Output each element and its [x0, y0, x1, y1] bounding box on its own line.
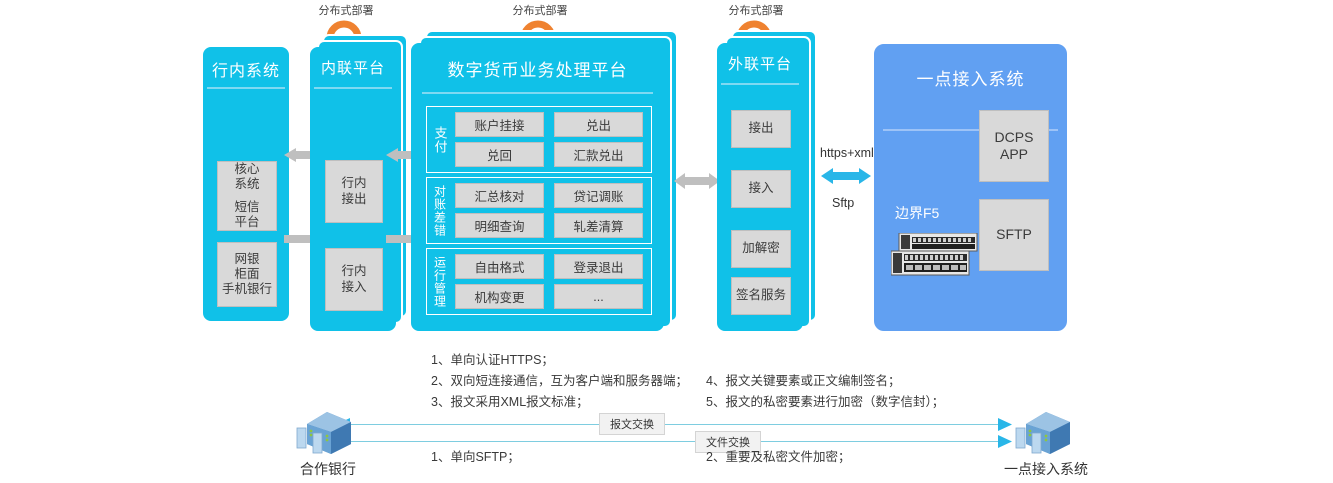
group-payment-cells: 账户挂接 兑出 兑回 汇款兑出 — [453, 107, 651, 172]
list-item: 4、报文关键要素或正文编制签名； — [706, 371, 944, 392]
panel-extranet-platform: 外联平台 接出 接入 加解密 签名服务 — [717, 43, 803, 331]
server-stack-svg — [293, 404, 361, 456]
title-divider — [314, 87, 391, 89]
bottom-left-list: 1、单向认证HTTPS； 2、双向短连接通信，互为客户端和服务器端； 3、报文采… — [431, 350, 688, 413]
bottom-lower-right-text: 2、重要及私密文件加密； — [706, 447, 850, 468]
cell-remit-exchange-out[interactable]: 汇款兑出 — [554, 142, 643, 167]
box-line: 平台 — [234, 215, 259, 230]
arrow-dcep-extranet-bidirectional — [674, 172, 720, 186]
cell-exchange-back[interactable]: 兑回 — [455, 142, 544, 167]
group-reconciliation-cells: 汇总核对 贷记调账 明细查询 轧差清算 — [453, 178, 651, 243]
cell-detail-query[interactable]: 明细查询 — [455, 213, 544, 238]
bottom-right-list: 4、报文关键要素或正文编制签名； 5、报文的私密要素进行加密（数字信封）； — [706, 371, 944, 413]
cell-account-link[interactable]: 账户挂接 — [455, 112, 544, 137]
box-ingress: 接入 — [731, 170, 791, 208]
list-item: 2、双向短连接通信，互为客户端和服务器端； — [431, 371, 688, 392]
group-operations-cells: 自由格式 登录退出 机构变更 ... — [453, 249, 651, 314]
server-icon-partner-bank — [293, 404, 361, 461]
cell-summary-check[interactable]: 汇总核对 — [455, 183, 544, 208]
panel-inbank-system: 行内系统 核心 系统 短信 平台 网银 柜面 手机银行 — [203, 47, 289, 321]
cell-more[interactable]: ... — [554, 284, 643, 309]
panel-onepoint-title: 一点接入系统 — [875, 45, 1066, 90]
message-exchange-line — [340, 424, 1008, 425]
panel-dcep-title: 数字货币业务处理平台 — [412, 44, 663, 81]
box-egress: 接出 — [731, 110, 791, 148]
cell-netting-settlement[interactable]: 轧差清算 — [554, 213, 643, 238]
box-line: 行内 — [341, 176, 366, 191]
box-line: 短信 — [234, 200, 259, 215]
network-switch-icon — [891, 233, 983, 282]
group-reconciliation: 对账差错 汇总核对 贷记调账 明细查询 轧差清算 — [426, 177, 652, 244]
box-dcps-app: DCPS APP — [979, 110, 1049, 182]
list-item: 5、报文的私密要素进行加密（数字信封）； — [706, 392, 944, 413]
box-line: APP — [1000, 146, 1028, 163]
cell-org-change[interactable]: 机构变更 — [455, 284, 544, 309]
arrowhead-right-icon — [998, 435, 1012, 448]
arrowhead-right-icon — [998, 418, 1012, 431]
box-line: 核心 — [234, 162, 259, 177]
server-stack-svg — [1012, 404, 1080, 456]
group-payment: 支付 账户挂接 兑出 兑回 汇款兑出 — [426, 106, 652, 173]
box-inbank-ingress: 行内 接入 — [325, 248, 383, 311]
title-divider — [207, 87, 284, 89]
arrowhead-to-onepoint-file — [998, 435, 1012, 453]
network-switch-svg — [891, 233, 983, 277]
arrow-double-icon — [674, 172, 720, 190]
box-line: 柜面 — [234, 267, 259, 282]
arrow-double-cyan-icon — [821, 167, 871, 185]
box-sftp: SFTP — [979, 199, 1049, 271]
panel-onepoint-access-system: 一点接入系统 边界F5 — [874, 44, 1067, 331]
tag-message-exchange: 报文交换 — [599, 413, 665, 435]
box-inbank-egress: 行内 接出 — [325, 160, 383, 223]
box-line: 系统 — [234, 177, 259, 192]
f5-boundary-label: 边界F5 — [895, 203, 939, 223]
cell-exchange-out[interactable]: 兑出 — [554, 112, 643, 137]
protocol-label-sftp: Sftp — [832, 196, 854, 210]
list-item: 3、报文采用XML报文标准； — [431, 392, 688, 413]
arrowhead-to-onepoint-message — [998, 418, 1012, 436]
box-line: 网银 — [234, 252, 259, 267]
box-encrypt-decrypt: 加解密 — [731, 230, 791, 268]
protocol-arrow-bidirectional — [821, 167, 871, 190]
panel-inbank-title: 行内系统 — [204, 48, 288, 81]
server-label-onepoint-access: 一点接入系统 — [996, 459, 1096, 479]
server-label-partner-bank: 合作银行 — [288, 459, 368, 479]
group-reconciliation-label: 对账差错 — [427, 178, 453, 243]
bottom-lower-left-text: 1、单向SFTP； — [431, 447, 520, 468]
title-divider — [422, 92, 653, 94]
panel-dcep-platform: 数字货币业务处理平台 支付 账户挂接 兑出 兑回 汇款兑出 对账差错 汇总核对 … — [411, 43, 664, 331]
list-item: 1、单向认证HTTPS； — [431, 350, 688, 371]
title-divider — [721, 83, 798, 85]
box-line: 行内 — [341, 264, 366, 279]
cell-free-format[interactable]: 自由格式 — [455, 254, 544, 279]
server-icon-onepoint-access — [1012, 404, 1080, 461]
box-ebank-counter-mobile: 网银 柜面 手机银行 — [217, 242, 277, 307]
group-payment-label: 支付 — [427, 107, 453, 172]
box-line: 接出 — [341, 192, 366, 207]
box-core-system: 核心 系统 短信 平台 — [217, 161, 277, 231]
group-operations-label: 运行管理 — [427, 249, 453, 314]
cell-login-logout[interactable]: 登录退出 — [554, 254, 643, 279]
box-signature-service: 签名服务 — [731, 277, 791, 315]
box-line: DCPS — [995, 129, 1034, 146]
protocol-label-https-xml: https+xml — [820, 146, 874, 160]
cell-credit-adjust[interactable]: 贷记调账 — [554, 183, 643, 208]
panel-extranet-title: 外联平台 — [718, 44, 802, 74]
file-exchange-line — [340, 441, 1008, 442]
box-line: 接入 — [341, 280, 366, 295]
group-operations: 运行管理 自由格式 登录退出 机构变更 ... — [426, 248, 652, 315]
panel-intranet-title: 内联平台 — [311, 48, 395, 78]
box-line: 手机银行 — [222, 282, 272, 297]
panel-intranet-platform: 内联平台 行内 接出 行内 接入 — [310, 47, 396, 331]
